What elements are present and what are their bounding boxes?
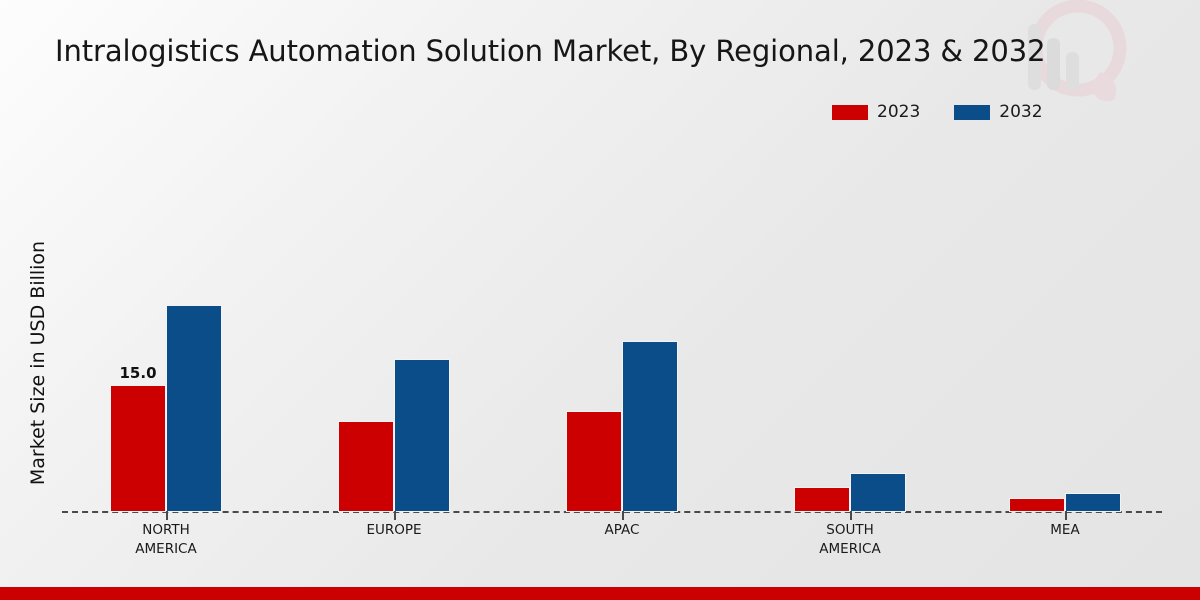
bar-2032[interactable] xyxy=(1065,493,1121,512)
category-label-line: MEA xyxy=(965,521,1165,540)
bar-2023[interactable] xyxy=(794,487,850,512)
x-axis-category-label: EUROPE xyxy=(294,521,494,540)
x-axis-tick xyxy=(166,511,168,520)
category-label-line: EUROPE xyxy=(294,521,494,540)
category-label-line: AMERICA xyxy=(750,540,950,559)
footer-accent-bar xyxy=(0,587,1200,600)
plot-area: 15.0NORTHAMERICAEUROPEAPACSOUTHAMERICAME… xyxy=(0,0,1200,600)
bar-2032[interactable] xyxy=(850,473,906,512)
chart-root: Intralogistics Automation Solution Marke… xyxy=(0,0,1200,600)
x-axis-tick xyxy=(622,511,624,520)
category-label-line: NORTH xyxy=(66,521,266,540)
category-label-line: AMERICA xyxy=(66,540,266,559)
bar-2023[interactable] xyxy=(338,421,394,512)
x-axis-category-label: SOUTHAMERICA xyxy=(750,521,950,559)
bar-2032[interactable] xyxy=(622,341,678,512)
category-label-line: APAC xyxy=(522,521,722,540)
bar-2032[interactable] xyxy=(166,305,222,512)
bar-2032[interactable] xyxy=(394,359,450,512)
x-axis-category-label: APAC xyxy=(522,521,722,540)
x-axis-tick xyxy=(1065,511,1067,520)
bar-2023[interactable] xyxy=(566,411,622,512)
x-axis-category-label: NORTHAMERICA xyxy=(66,521,266,559)
bar-2023[interactable] xyxy=(1009,498,1065,512)
bar-2023[interactable]: 15.0 xyxy=(110,385,166,512)
x-axis-category-label: MEA xyxy=(965,521,1165,540)
x-axis-tick xyxy=(394,511,396,520)
category-label-line: SOUTH xyxy=(750,521,950,540)
bar-value-label: 15.0 xyxy=(119,364,156,382)
x-axis-tick xyxy=(850,511,852,520)
